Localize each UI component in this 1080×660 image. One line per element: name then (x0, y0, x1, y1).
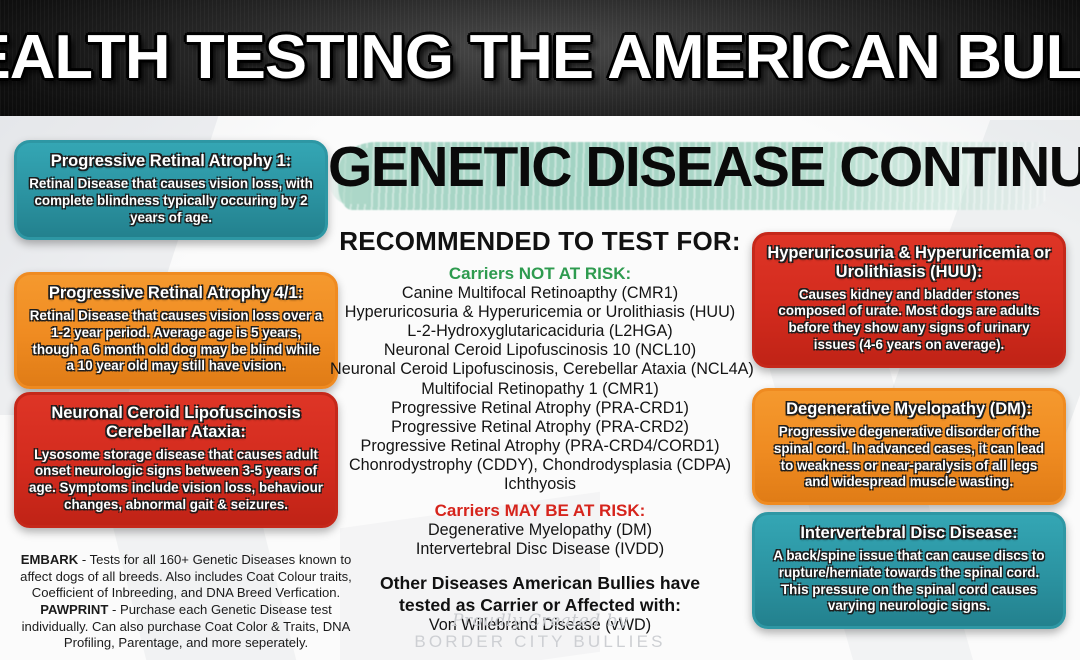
list-item: Von Willebrand Disease (vWD) (330, 616, 750, 635)
card-title: Neuronal Ceroid Lipofuscinosis Cerebella… (29, 404, 323, 442)
other-diseases-heading-line2: tested as Carrier or Affected with: (330, 595, 750, 616)
card-title: Hyperuricosuria & Hyperuricemia or Uroli… (767, 244, 1051, 282)
card-title: Progressive Retinal Atrophy 1: (29, 152, 313, 171)
list-item: Neuronal Ceroid Lipofuscinosis, Cerebell… (330, 360, 750, 379)
list-item: Progressive Retinal Atrophy (PRA-CRD1) (330, 399, 750, 418)
disease-card-neuronal-ceroid-lipofuscinosis: Neuronal Ceroid Lipofuscinosis Cerebella… (14, 392, 338, 528)
section-title-block: GENETIC DISEASE CONTINUED (328, 124, 1068, 228)
list-item: Neuronal Ceroid Lipofuscinosis 10 (NCL10… (330, 341, 750, 360)
carriers-not-at-risk-heading: Carriers NOT AT RISK: (330, 264, 750, 284)
list-item: Intervertebral Disc Disease (IVDD) (330, 540, 750, 559)
list-item: Canine Multifocal Retinoapthy (CMR1) (330, 284, 750, 303)
list-item: L-2-Hydroxyglutaricaciduria (L2HGA) (330, 322, 750, 341)
disease-card-progressive-retinal-atrophy-1: Progressive Retinal Atrophy 1: Retinal D… (14, 140, 328, 240)
list-item: Hyperuricosuria & Hyperuricemia or Uroli… (330, 303, 750, 322)
section-title: GENETIC DISEASE CONTINUED (328, 136, 1068, 199)
card-body: Lysosome storage disease that causes adu… (29, 447, 323, 515)
other-diseases-heading: Other Diseases American Bullies have tes… (330, 573, 750, 615)
carriers-may-be-at-risk-list: Degenerative Myelopathy (DM)Intervertebr… (330, 521, 750, 559)
list-item: Ichthyosis (330, 475, 750, 494)
other-diseases-heading-line1: Other Diseases American Bullies have (330, 573, 750, 594)
infographic-canvas: HEALTH TESTING THE AMERICAN BULLY Progre… (0, 0, 1080, 660)
disease-card-degenerative-myelopathy: Degenerative Myelopathy (DM): Progressiv… (752, 388, 1066, 505)
card-body: Retinal Disease that causes vision loss … (29, 308, 323, 376)
card-body: A back/spine issue that can cause discs … (767, 548, 1051, 616)
list-item: Progressive Retinal Atrophy (PRA-CRD2) (330, 418, 750, 437)
disease-card-hyperuricosuria-huu: Hyperuricosuria & Hyperuricemia or Uroli… (752, 232, 1066, 368)
pawprint-label: PAWPRINT (40, 602, 108, 617)
centre-column: GENETIC DISEASE CONTINUED RECOMMENDED TO… (330, 124, 750, 635)
card-body: Causes kidney and bladder stones compose… (767, 287, 1051, 355)
list-item: Progressive Retinal Atrophy (PRA-CRD4/CO… (330, 437, 750, 456)
embark-label: EMBARK (21, 552, 78, 567)
other-diseases-list: Von Willebrand Disease (vWD) (330, 616, 750, 635)
card-title: Degenerative Myelopathy (DM): (767, 400, 1051, 419)
list-item: Multifocial Retinopathy 1 (CMR1) (330, 380, 750, 399)
disease-card-progressive-retinal-atrophy-4-1: Progressive Retinal Atrophy 4/1: Retinal… (14, 272, 338, 389)
list-item: Chonrodystrophy (CDDY), Chondrodysplasia… (330, 456, 750, 475)
disease-card-intervertebral-disc-disease: Intervertebral Disc Disease: A back/spin… (752, 512, 1066, 629)
carriers-may-be-at-risk-heading: Carriers MAY BE AT RISK: (330, 501, 750, 521)
list-item: Degenerative Myelopathy (DM) (330, 521, 750, 540)
card-body: Retinal Disease that causes vision loss,… (29, 176, 313, 227)
header-banner: HEALTH TESTING THE AMERICAN BULLY (0, 0, 1080, 116)
recommended-heading: RECOMMENDED TO TEST FOR: (330, 226, 750, 257)
card-title: Intervertebral Disc Disease: (767, 524, 1051, 543)
testing-providers-footnote: EMBARK - Tests for all 160+ Genetic Dise… (10, 552, 362, 652)
banner-title: HEALTH TESTING THE AMERICAN BULLY (0, 27, 1080, 89)
carriers-not-at-risk-list: Canine Multifocal Retinoapthy (CMR1)Hype… (330, 284, 750, 494)
card-title: Progressive Retinal Atrophy 4/1: (29, 284, 323, 303)
card-body: Progressive degenerative disorder of the… (767, 424, 1051, 492)
